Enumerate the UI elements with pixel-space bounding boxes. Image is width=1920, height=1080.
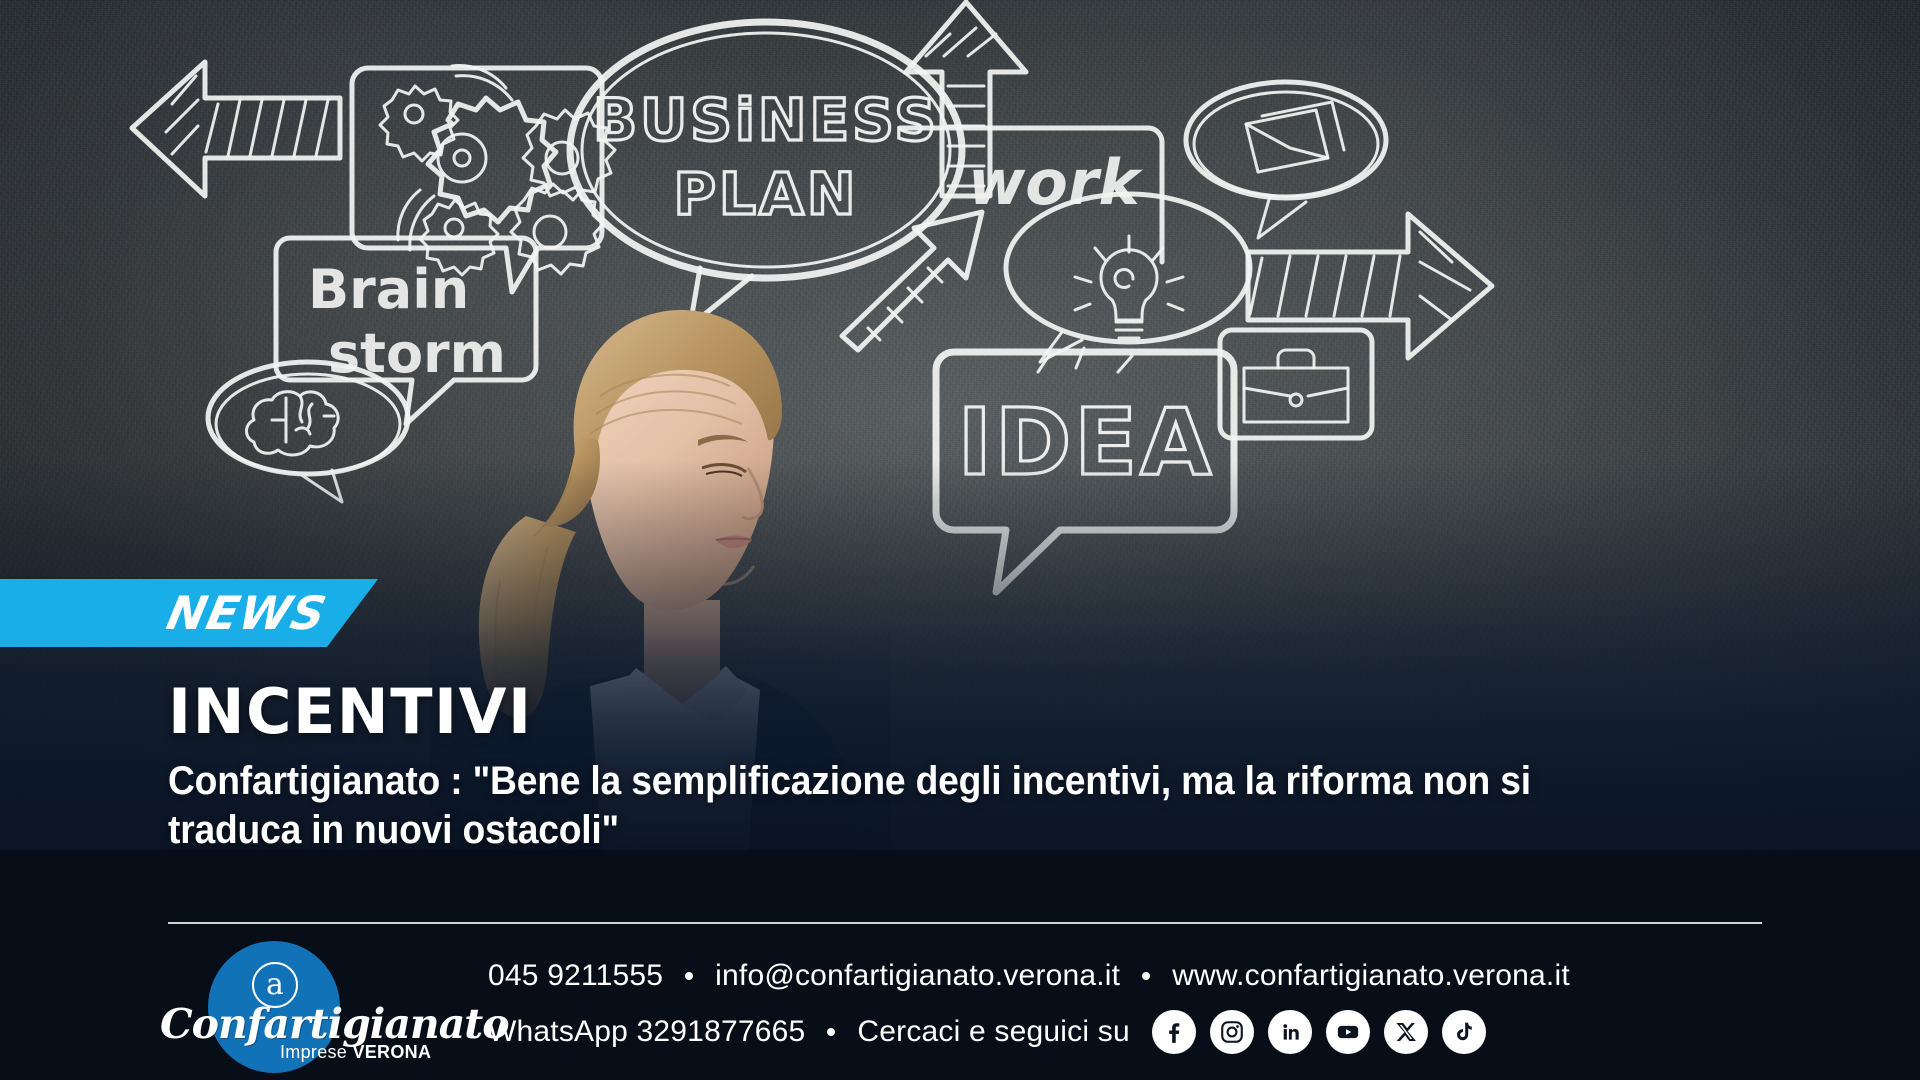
whatsapp-number[interactable]: WhatsApp 3291877665 <box>488 1015 805 1049</box>
bullet-separator-icon <box>1142 972 1150 980</box>
tiktok-icon[interactable] <box>1442 1010 1486 1054</box>
email-address[interactable]: info@confartigianato.verona.it <box>715 959 1120 993</box>
logo-subtitle-prefix: Imprese <box>280 1042 352 1062</box>
chalk-business-plan-line2: PLAN <box>674 160 859 228</box>
social-links <box>1152 1010 1486 1054</box>
contact-row-secondary: WhatsApp 3291877665 Cercaci e seguici su <box>488 1004 1570 1060</box>
bullet-separator-icon <box>685 972 693 980</box>
bullet-separator-icon <box>827 1028 835 1036</box>
briefcase-icon <box>1244 350 1348 422</box>
news-card: BUSiNESS PLAN work <box>0 0 1920 1080</box>
website-url[interactable]: www.confartigianato.verona.it <box>1172 959 1570 993</box>
facebook-icon[interactable] <box>1152 1010 1196 1054</box>
logo-subtitle: Imprese VERONA <box>280 1042 431 1063</box>
contact-row-primary: 045 9211555 info@confartigianato.verona.… <box>488 948 1570 1004</box>
chalk-business-plan-line1: BUSiNESS <box>593 86 939 154</box>
follow-label: Cercaci e seguici su <box>857 1015 1129 1049</box>
chalk-idea-text: IDEA <box>958 389 1215 496</box>
x-twitter-icon[interactable] <box>1384 1010 1428 1054</box>
arrow-left-icon <box>132 62 340 196</box>
footer-divider <box>168 922 1762 924</box>
instagram-icon[interactable] <box>1210 1010 1254 1054</box>
phone-number[interactable]: 045 9211555 <box>488 959 663 993</box>
news-badge-label: NEWS <box>163 590 331 636</box>
envelope-icon <box>1246 102 1344 172</box>
lightbulb-icon <box>1075 236 1183 338</box>
page-title: INCENTIVI <box>168 680 1768 743</box>
brain-icon <box>247 392 339 455</box>
youtube-icon[interactable] <box>1326 1010 1370 1054</box>
footer-contact: 045 9211555 info@confartigianato.verona.… <box>488 948 1570 1060</box>
headline-block: INCENTIVI Confartigianato : "Bene la sem… <box>168 680 1768 855</box>
gears-icon <box>380 66 615 275</box>
confartigianato-logo[interactable]: a Confartigianato Imprese VERONA <box>160 938 460 1078</box>
news-badge: NEWS <box>0 579 378 647</box>
linkedin-icon[interactable] <box>1268 1010 1312 1054</box>
headline-subtitle: Confartigianato : "Bene la semplificazio… <box>168 757 1656 855</box>
logo-wordmark: Confartigianato <box>160 1000 509 1048</box>
logo-subtitle-city: VERONA <box>352 1042 431 1062</box>
